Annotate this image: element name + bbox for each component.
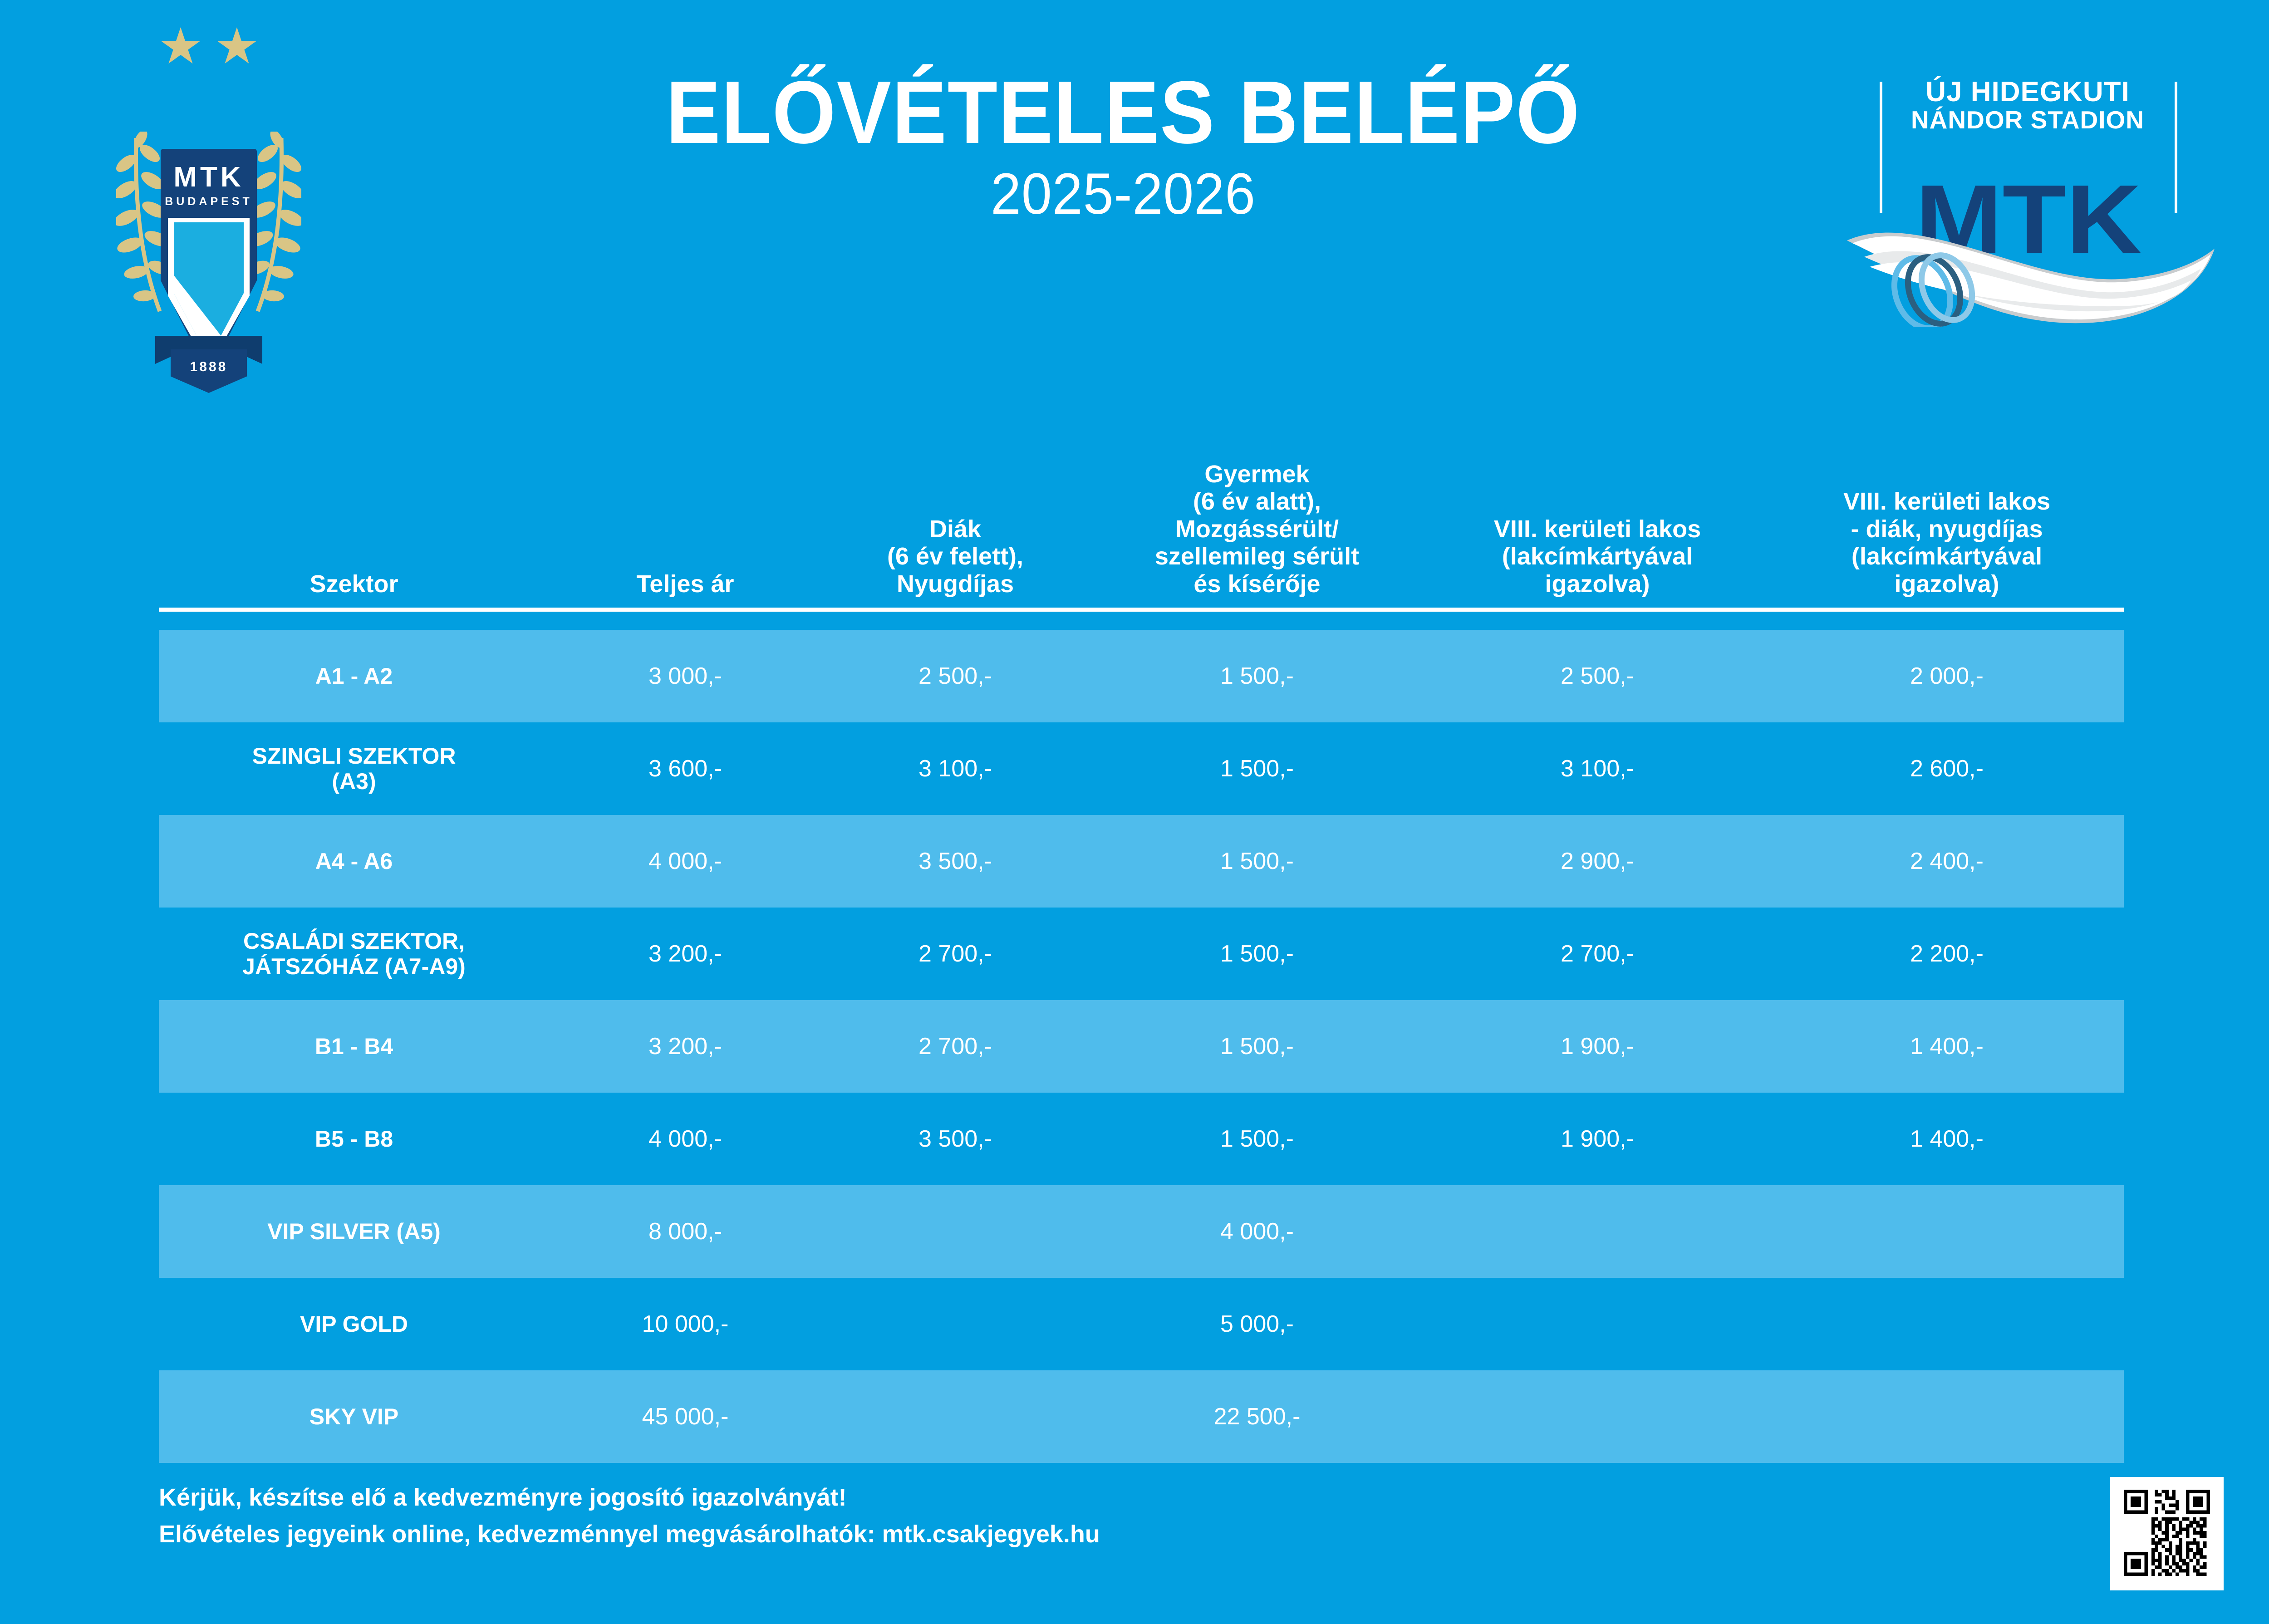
cell-sector: B5 - B8 bbox=[159, 1126, 549, 1152]
cell-district8-student-price: 2 600,- bbox=[1770, 756, 2124, 782]
page-title: ELŐVÉTELES BELÉPŐ bbox=[570, 68, 1676, 157]
cell-child-price: 22 500,- bbox=[1089, 1403, 1425, 1430]
header-divider bbox=[159, 608, 2124, 612]
column-header-sector: Szektor bbox=[159, 570, 549, 601]
table-row: SKY VIP45 000,-22 500,- bbox=[159, 1370, 2124, 1463]
cell-full-price: 4 000,- bbox=[549, 1126, 821, 1152]
cell-full-price: 3 200,- bbox=[549, 1033, 821, 1060]
swoosh-icon bbox=[1838, 204, 2219, 327]
cell-full-price: 10 000,- bbox=[549, 1311, 821, 1337]
cell-student-price: 2 700,- bbox=[821, 941, 1089, 967]
cell-student-price: 3 500,- bbox=[821, 1126, 1089, 1152]
cell-district8-price: 2 900,- bbox=[1425, 848, 1770, 874]
cell-sector: SZINGLI SZEKTOR(A3) bbox=[159, 743, 549, 794]
cell-district8-student-price: 1 400,- bbox=[1770, 1126, 2124, 1152]
season-subtitle: 2025-2026 bbox=[558, 165, 1689, 223]
cell-child-price: 1 500,- bbox=[1089, 848, 1425, 874]
cell-student-price: 3 500,- bbox=[821, 848, 1089, 874]
table-row: CSALÁDI SZEKTOR,JÁTSZÓHÁZ (A7-A9)3 200,-… bbox=[159, 908, 2124, 1000]
cell-full-price: 45 000,- bbox=[549, 1403, 821, 1430]
column-header-child-disabled: Gyermek(6 év alatt),Mozgássérült/szellem… bbox=[1089, 461, 1425, 601]
table-row: VIP GOLD10 000,-5 000,- bbox=[159, 1278, 2124, 1370]
cell-sector: SKY VIP bbox=[159, 1404, 549, 1429]
cell-district8-price: 3 100,- bbox=[1425, 756, 1770, 782]
table-row: B5 - B84 000,-3 500,-1 500,-1 900,-1 400… bbox=[159, 1093, 2124, 1185]
qr-code[interactable] bbox=[2110, 1477, 2224, 1590]
cell-full-price: 3 000,- bbox=[549, 663, 821, 689]
cell-sector: A4 - A6 bbox=[159, 849, 549, 874]
table-row: B1 - B43 200,-2 700,-1 500,-1 900,-1 400… bbox=[159, 1000, 2124, 1093]
table-row: A4 - A64 000,-3 500,-1 500,-2 900,-2 400… bbox=[159, 815, 2124, 908]
qr-code-icon bbox=[2124, 1490, 2210, 1576]
cell-child-price: 1 500,- bbox=[1089, 1033, 1425, 1060]
cell-full-price: 3 600,- bbox=[549, 756, 821, 782]
star-icon bbox=[217, 27, 256, 66]
cell-child-price: 4 000,- bbox=[1089, 1218, 1425, 1245]
stadium-name-line2: NÁNDOR STADION bbox=[1878, 107, 2177, 133]
cell-district8-student-price: 2 400,- bbox=[1770, 848, 2124, 874]
table-row: SZINGLI SZEKTOR(A3)3 600,-3 100,-1 500,-… bbox=[159, 722, 2124, 815]
cell-full-price: 3 200,- bbox=[549, 941, 821, 967]
star-icon bbox=[161, 27, 200, 66]
poster-footer: Kérjük, készítse elő a kedvezményre jogo… bbox=[159, 1479, 1793, 1553]
cell-full-price: 8 000,- bbox=[549, 1218, 821, 1245]
price-table: Szektor Teljes ár Diák(6 év felett),Nyug… bbox=[159, 354, 2124, 1463]
column-header-district8-student: VIII. kerületi lakos- diák, nyugdíjas(la… bbox=[1770, 488, 2124, 601]
cell-child-price: 1 500,- bbox=[1089, 663, 1425, 689]
cell-sector: VIP SILVER (A5) bbox=[159, 1219, 549, 1244]
stadium-logo: ÚJ HIDEGKUTI NÁNDOR STADION MTK bbox=[1852, 68, 2205, 322]
stadium-logo-text: ÚJ HIDEGKUTI NÁNDOR STADION bbox=[1878, 77, 2177, 133]
crest-club-name: MTK bbox=[161, 163, 257, 191]
cell-student-price: 2 500,- bbox=[821, 663, 1089, 689]
ticket-price-poster: MTK BUDAPEST 1888 ELŐVÉTELES BELÉPŐ 2025… bbox=[0, 0, 2269, 1624]
cell-district8-price: 2 700,- bbox=[1425, 941, 1770, 967]
cell-full-price: 4 000,- bbox=[549, 848, 821, 874]
cell-child-price: 1 500,- bbox=[1089, 1126, 1425, 1152]
table-row: A1 - A23 000,-2 500,-1 500,-2 500,-2 000… bbox=[159, 630, 2124, 722]
crest-city-name: BUDAPEST bbox=[161, 196, 257, 207]
cell-student-price: 3 100,- bbox=[821, 756, 1089, 782]
cell-student-price: 2 700,- bbox=[821, 1033, 1089, 1060]
footer-note-documents: Kérjük, készítse elő a kedvezményre jogo… bbox=[159, 1479, 1793, 1516]
stadium-name-line1: ÚJ HIDEGKUTI bbox=[1878, 77, 2177, 107]
cell-district8-price: 1 900,- bbox=[1425, 1126, 1770, 1152]
poster-title-block: ELŐVÉTELES BELÉPŐ 2025-2026 bbox=[522, 68, 1724, 223]
cell-sector: CSALÁDI SZEKTOR,JÁTSZÓHÁZ (A7-A9) bbox=[159, 928, 549, 979]
crest-stars bbox=[113, 27, 304, 77]
cell-sector: A1 - A2 bbox=[159, 663, 549, 689]
column-header-district8: VIII. kerületi lakos(lakcímkártyávaligaz… bbox=[1425, 515, 1770, 601]
cell-district8-student-price: 2 200,- bbox=[1770, 941, 2124, 967]
cell-sector: VIP GOLD bbox=[159, 1311, 549, 1337]
poster-header: MTK BUDAPEST 1888 ELŐVÉTELES BELÉPŐ 2025… bbox=[0, 0, 2269, 354]
cell-child-price: 1 500,- bbox=[1089, 756, 1425, 782]
column-header-full-price: Teljes ár bbox=[549, 570, 821, 601]
crest-laurel-wreath: MTK BUDAPEST 1888 bbox=[113, 95, 304, 331]
table-row: VIP SILVER (A5)8 000,-4 000,- bbox=[159, 1185, 2124, 1278]
cell-district8-price: 1 900,- bbox=[1425, 1033, 1770, 1060]
cell-district8-student-price: 2 000,- bbox=[1770, 663, 2124, 689]
footer-note-online: Elővételes jegyeink online, kedvezménnye… bbox=[159, 1516, 1793, 1553]
cell-child-price: 1 500,- bbox=[1089, 941, 1425, 967]
cell-child-price: 5 000,- bbox=[1089, 1311, 1425, 1337]
cell-district8-price: 2 500,- bbox=[1425, 663, 1770, 689]
cell-sector: B1 - B4 bbox=[159, 1034, 549, 1059]
table-header-row: Szektor Teljes ár Diák(6 év felett),Nyug… bbox=[159, 354, 2124, 601]
mtk-crest-logo: MTK BUDAPEST 1888 bbox=[113, 27, 304, 345]
table-body: A1 - A23 000,-2 500,-1 500,-2 500,-2 000… bbox=[159, 630, 2124, 1463]
column-header-student: Diák(6 év felett),Nyugdíjas bbox=[821, 515, 1089, 601]
cell-district8-student-price: 1 400,- bbox=[1770, 1033, 2124, 1060]
